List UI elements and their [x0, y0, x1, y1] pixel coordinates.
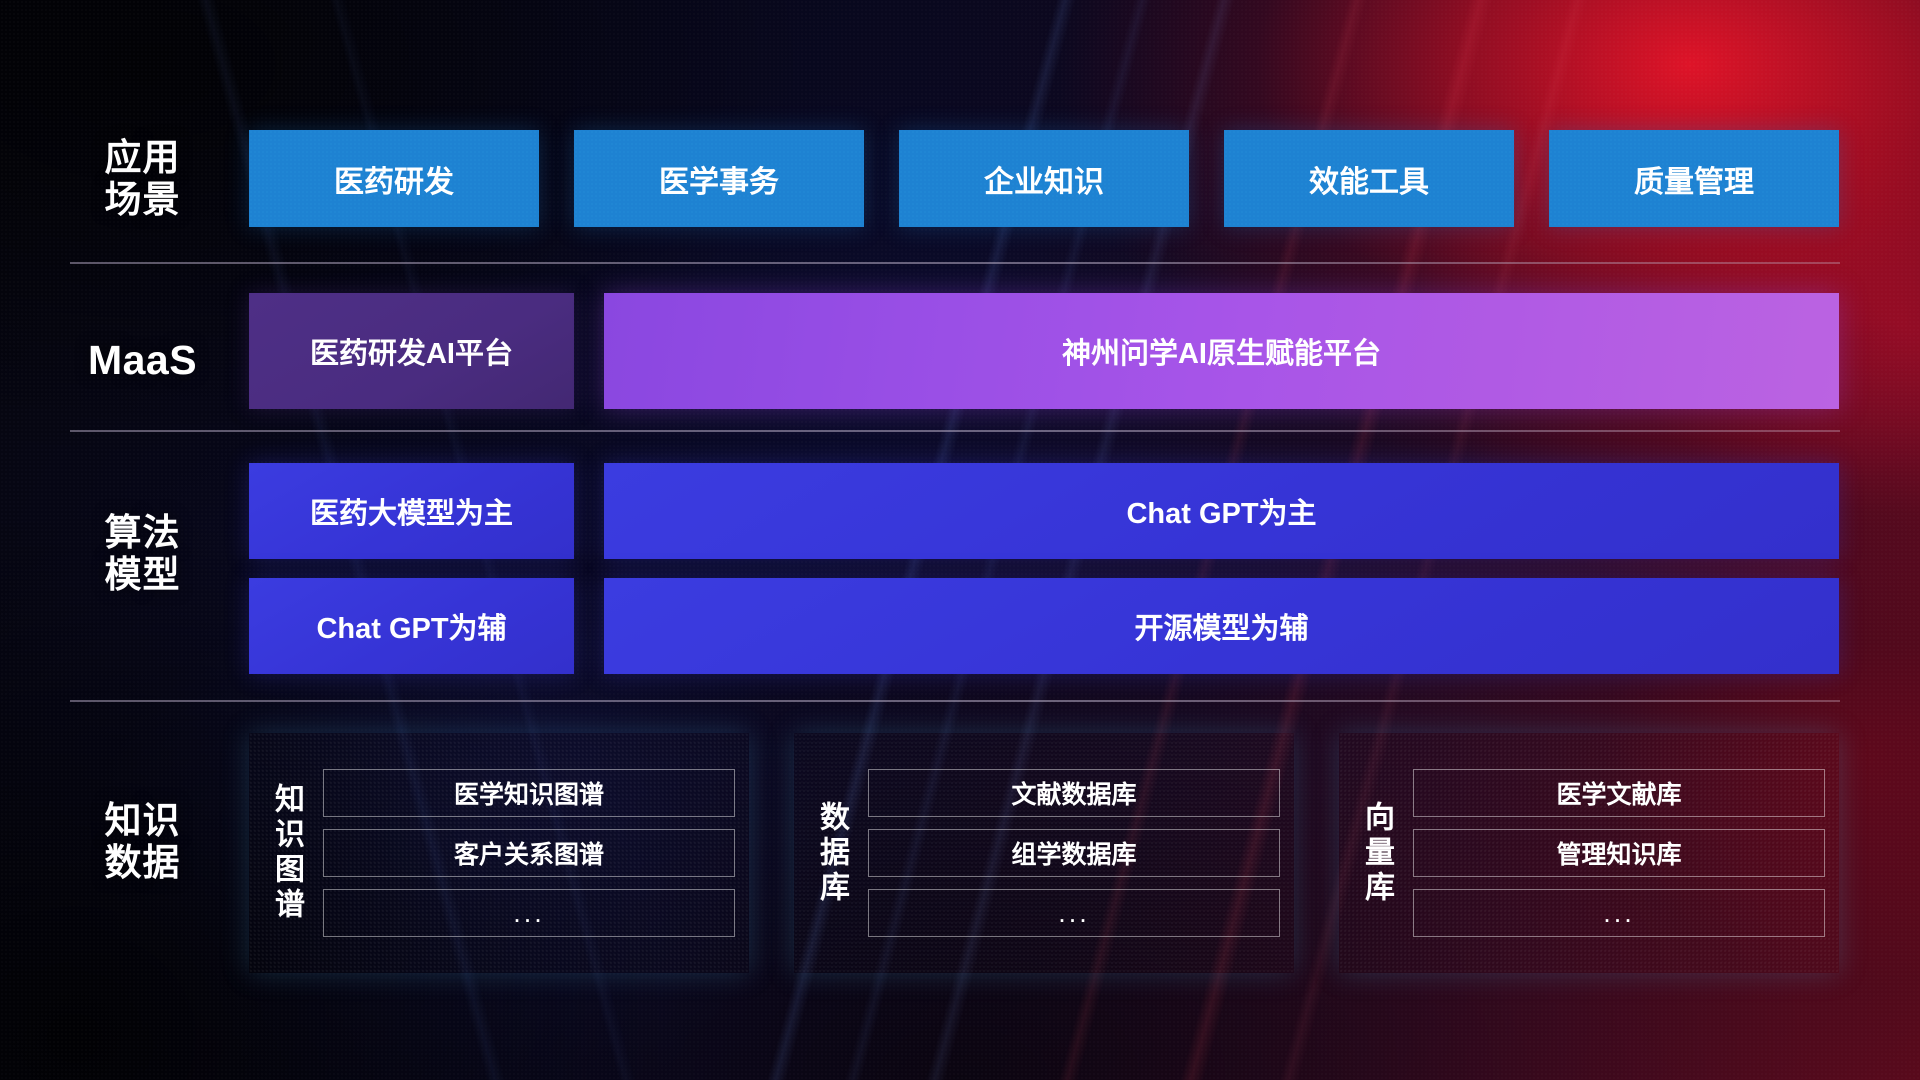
divider-maas-algorithm [70, 430, 1840, 432]
algorithm-box-secondary-right[interactable]: 开源模型为辅 [604, 578, 1839, 674]
knowledge-group-knowledge-graph-items: 医学知识图谱 客户关系图谱 ... [323, 733, 749, 973]
row-label-maas-text: MaaS [88, 337, 197, 383]
scenario-box-4[interactable]: 质量管理 [1549, 130, 1839, 227]
maas-box-shenzhou-platform[interactable]: 神州问学AI原生赋能平台 [604, 293, 1839, 409]
scenario-box-3[interactable]: 效能工具 [1224, 130, 1514, 227]
knowledge-item-1-2[interactable]: ... [868, 889, 1280, 937]
algorithm-box-primary-right-label: Chat GPT为主 [1126, 490, 1316, 532]
algorithm-box-secondary-left-label: Chat GPT为辅 [316, 605, 506, 647]
knowledge-item-1-1[interactable]: 组学数据库 [868, 829, 1280, 877]
knowledge-group-knowledge-graph-label: 知识图谱 [249, 733, 323, 973]
knowledge-item-0-2[interactable]: ... [323, 889, 735, 937]
scenario-box-4-label: 质量管理 [1634, 157, 1754, 201]
knowledge-item-2-2[interactable]: ... [1413, 889, 1825, 937]
diagram-content: 应用 场景 医药研发 医学事务 企业知识 效能工具 质量管理 MaaS 医药研发… [0, 0, 1920, 1080]
algorithm-box-primary-left-label: 医药大模型为主 [310, 490, 513, 532]
scenario-box-1-label: 医学事务 [659, 157, 779, 201]
row-label-algorithm-line1: 算法 [55, 512, 230, 554]
knowledge-group-vector-store-items: 医学文献库 管理知识库 ... [1413, 733, 1839, 973]
row-label-scenario-line2: 场景 [55, 179, 230, 221]
row-label-knowledge: 知识 数据 [55, 800, 230, 884]
row-label-algorithm-line2: 模型 [55, 554, 230, 596]
row-label-scenario-line1: 应用 [55, 137, 230, 179]
row-label-scenario: 应用 场景 [55, 137, 230, 221]
knowledge-item-2-1[interactable]: 管理知识库 [1413, 829, 1825, 877]
row-label-knowledge-line2: 数据 [55, 842, 230, 884]
knowledge-group-vector-store[interactable]: 向量库 医学文献库 管理知识库 ... [1339, 733, 1839, 973]
scenario-box-2[interactable]: 企业知识 [899, 130, 1189, 227]
knowledge-item-0-1[interactable]: 客户关系图谱 [323, 829, 735, 877]
knowledge-group-database-label: 数据库 [794, 733, 868, 973]
knowledge-group-database-items: 文献数据库 组学数据库 ... [868, 733, 1294, 973]
algorithm-box-primary-left[interactable]: 医药大模型为主 [249, 463, 574, 559]
row-label-knowledge-line1: 知识 [55, 800, 230, 842]
diagram-canvas: 应用 场景 医药研发 医学事务 企业知识 效能工具 质量管理 MaaS 医药研发… [0, 0, 1920, 1080]
knowledge-item-0-0[interactable]: 医学知识图谱 [323, 769, 735, 817]
knowledge-group-vector-store-label: 向量库 [1339, 733, 1413, 973]
knowledge-item-1-0[interactable]: 文献数据库 [868, 769, 1280, 817]
row-label-maas: MaaS [55, 337, 230, 384]
knowledge-item-2-0[interactable]: 医学文献库 [1413, 769, 1825, 817]
knowledge-group-knowledge-graph[interactable]: 知识图谱 医学知识图谱 客户关系图谱 ... [249, 733, 749, 973]
scenario-box-2-label: 企业知识 [984, 157, 1104, 201]
algorithm-box-secondary-right-label: 开源模型为辅 [1134, 605, 1308, 647]
knowledge-group-database[interactable]: 数据库 文献数据库 组学数据库 ... [794, 733, 1294, 973]
scenario-box-3-label: 效能工具 [1309, 157, 1429, 201]
maas-box-drug-ai-platform-label: 医药研发AI平台 [310, 330, 513, 372]
maas-box-drug-ai-platform[interactable]: 医药研发AI平台 [249, 293, 574, 409]
divider-algorithm-knowledge [70, 700, 1840, 702]
row-label-algorithm: 算法 模型 [55, 512, 230, 596]
scenario-box-1[interactable]: 医学事务 [574, 130, 864, 227]
algorithm-box-secondary-left[interactable]: Chat GPT为辅 [249, 578, 574, 674]
scenario-box-0[interactable]: 医药研发 [249, 130, 539, 227]
divider-scenario-maas [70, 262, 1840, 264]
algorithm-box-primary-right[interactable]: Chat GPT为主 [604, 463, 1839, 559]
scenario-box-0-label: 医药研发 [334, 157, 454, 201]
maas-box-shenzhou-platform-label: 神州问学AI原生赋能平台 [1062, 330, 1381, 372]
